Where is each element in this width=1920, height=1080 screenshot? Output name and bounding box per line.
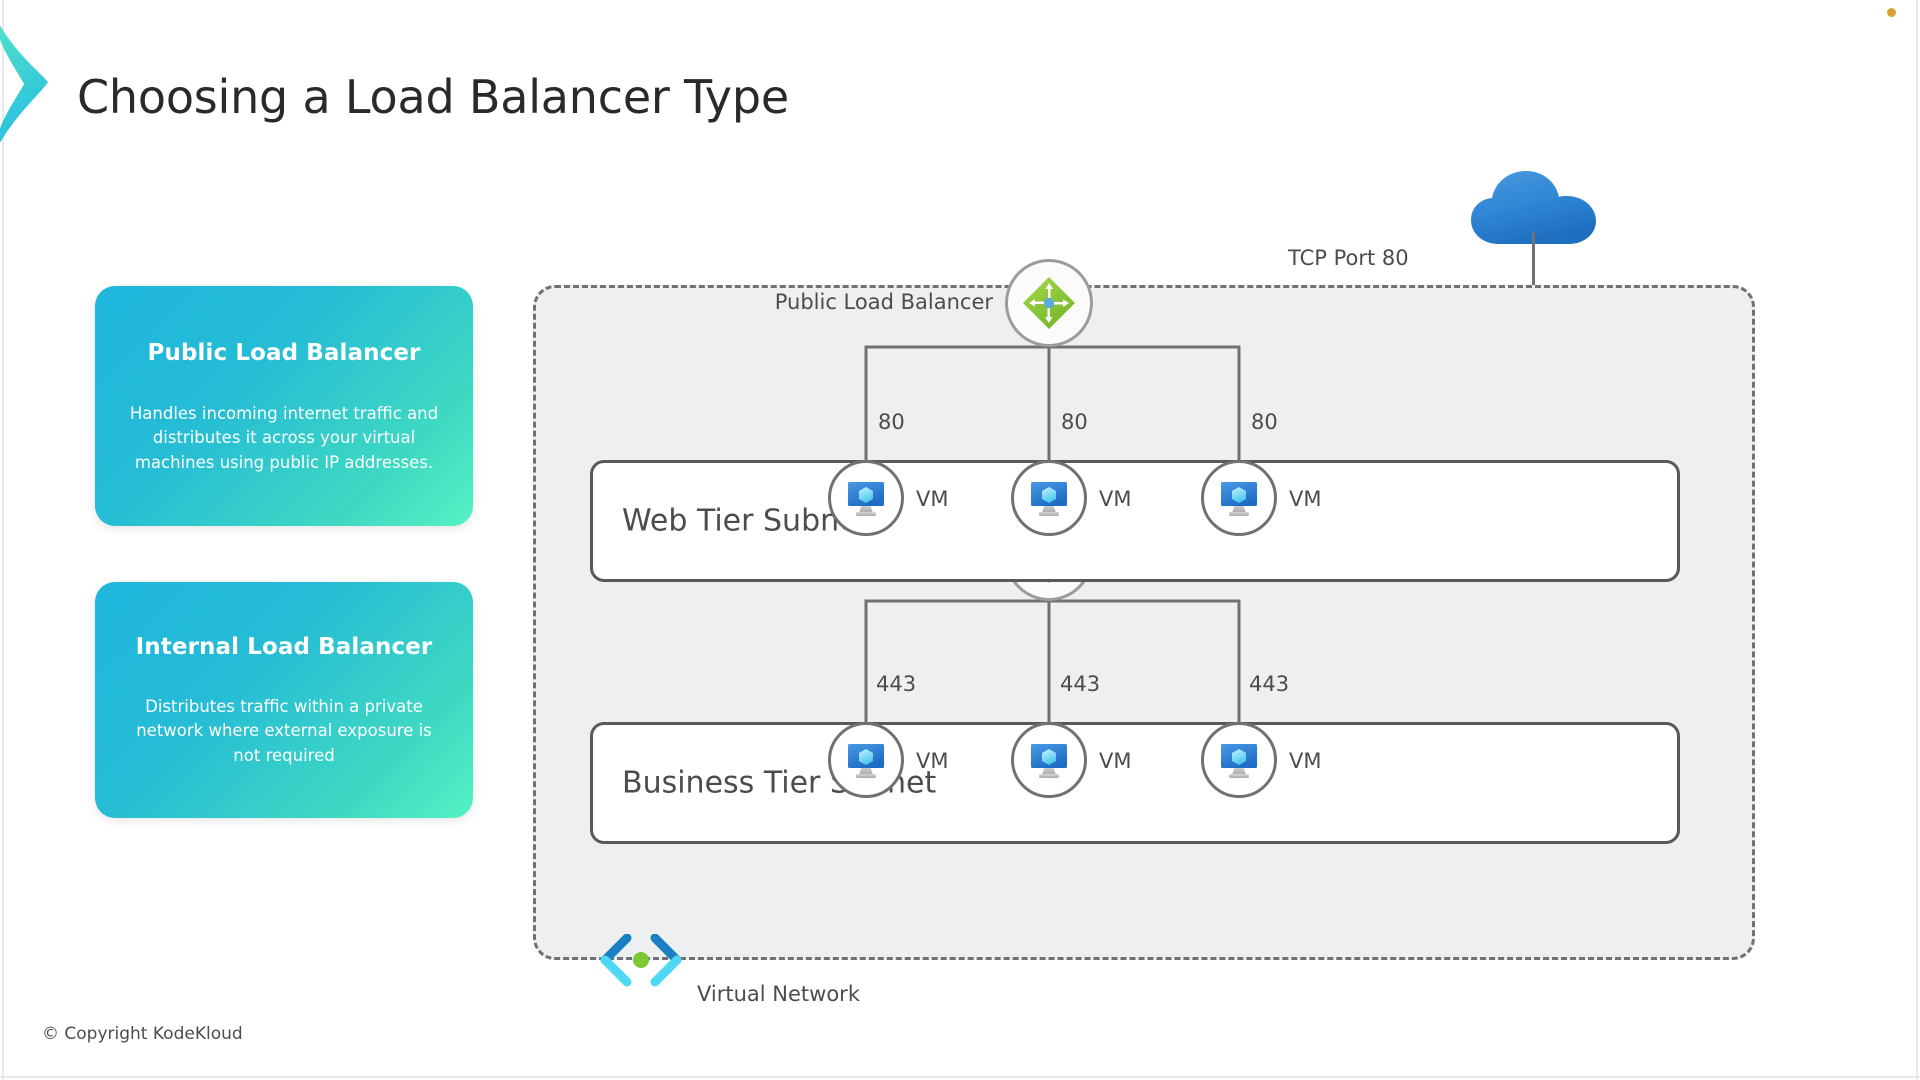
slide-border-right: [1916, 0, 1918, 1080]
virtual-network-label: Virtual Network: [697, 982, 860, 1006]
ingress-port-label: TCP Port 80: [1288, 246, 1409, 270]
card-internal-load-balancer: Internal Load Balancer Distributes traff…: [95, 582, 473, 818]
chevron-logo-icon: [0, 20, 52, 148]
public-lb-caption: Public Load Balancer: [723, 290, 993, 314]
port-label-biz-2: 443: [1060, 672, 1100, 696]
port-label-web-3: 80: [1251, 410, 1278, 434]
node-vm-biz-2[interactable]: [1011, 722, 1087, 798]
slide-border-left: [2, 0, 4, 1080]
card-body: Distributes traffic within a private net…: [121, 695, 447, 768]
card-title: Public Load Balancer: [121, 340, 447, 366]
virtual-network-icon: [597, 934, 685, 994]
network-diagram: Public Load Balancer Internal Load Balan…: [533, 285, 1755, 960]
virtual-machine-icon: [1027, 738, 1071, 782]
virtual-machine-icon: [844, 476, 888, 520]
vm-label-web-2: VM: [1099, 487, 1131, 511]
slide-root: Choosing a Load Balancer Type Public Loa…: [0, 0, 1920, 1080]
virtual-network-boundary: [533, 285, 1755, 960]
virtual-machine-icon: [1217, 476, 1261, 520]
status-dot: [1887, 8, 1896, 17]
copyright-footer: © Copyright KodeKloud: [42, 1024, 243, 1044]
node-vm-web-1[interactable]: [828, 460, 904, 536]
page-title: Choosing a Load Balancer Type: [77, 70, 789, 124]
node-public-load-balancer[interactable]: [1005, 259, 1093, 347]
vm-label-web-1: VM: [916, 487, 948, 511]
subnet-web-tier: Web Tier Subnet: [590, 460, 1680, 582]
port-label-biz-1: 443: [876, 672, 916, 696]
node-vm-biz-1[interactable]: [828, 722, 904, 798]
vm-label-web-3: VM: [1289, 487, 1321, 511]
vm-label-biz-1: VM: [916, 749, 948, 773]
slide-border-bottom: [0, 1076, 1920, 1078]
vm-label-biz-3: VM: [1289, 749, 1321, 773]
load-balancer-icon: [1022, 276, 1076, 330]
node-vm-web-2[interactable]: [1011, 460, 1087, 536]
card-title: Internal Load Balancer: [121, 634, 447, 660]
node-vm-web-3[interactable]: [1201, 460, 1277, 536]
virtual-machine-icon: [844, 738, 888, 782]
port-label-web-1: 80: [878, 410, 905, 434]
virtual-machine-icon: [1027, 476, 1071, 520]
card-public-load-balancer: Public Load Balancer Handles incoming in…: [95, 286, 473, 526]
vm-label-biz-2: VM: [1099, 749, 1131, 773]
port-label-biz-3: 443: [1249, 672, 1289, 696]
virtual-machine-icon: [1217, 738, 1261, 782]
cloud-connector-line: [1532, 232, 1535, 287]
node-vm-biz-3[interactable]: [1201, 722, 1277, 798]
port-label-web-2: 80: [1061, 410, 1088, 434]
card-body: Handles incoming internet traffic and di…: [121, 402, 447, 475]
subnet-business-tier: Business Tier Subnet: [590, 722, 1680, 844]
